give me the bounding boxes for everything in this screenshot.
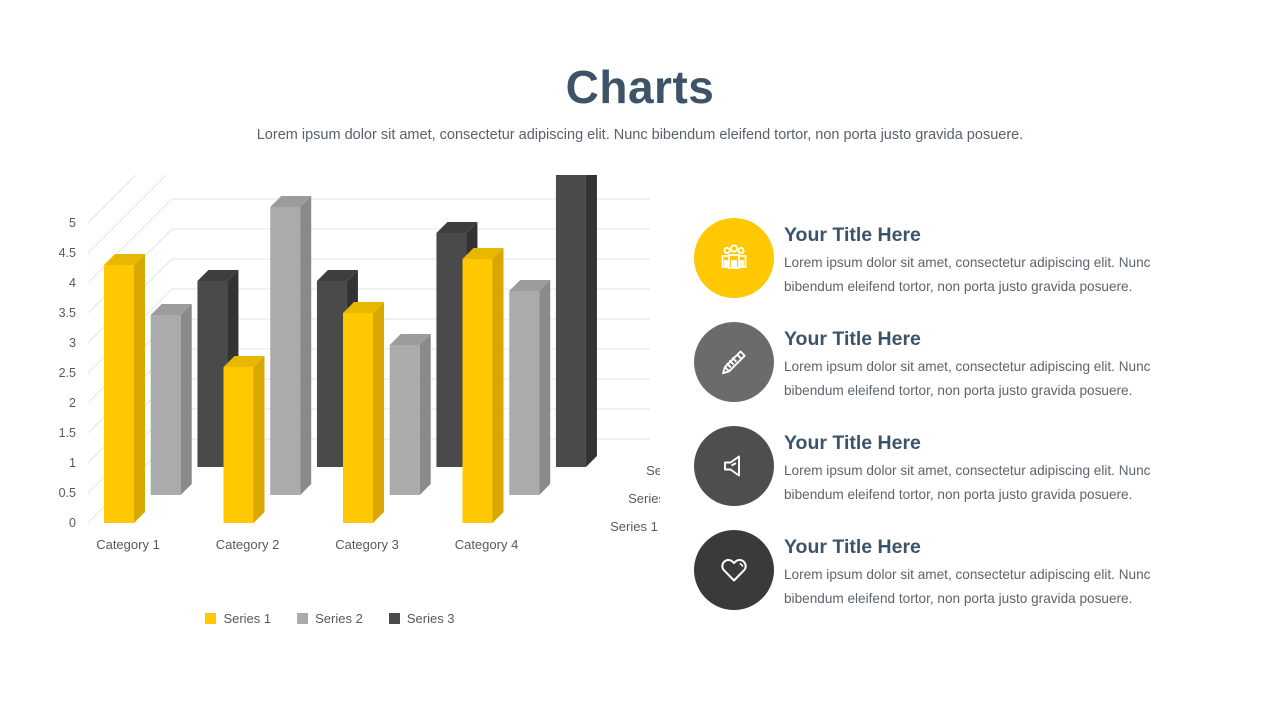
feature-title: Your Title Here — [784, 432, 1192, 454]
bar[interactable] — [509, 280, 550, 495]
bar[interactable] — [463, 248, 504, 523]
feature-description: Lorem ipsum dolor sit amet, consectetur … — [784, 459, 1192, 506]
y-tick-label: 3 — [69, 336, 76, 350]
feature-title: Your Title Here — [784, 328, 1192, 350]
bar-front-face — [436, 233, 466, 467]
page-subtitle: Lorem ipsum dolor sit amet, consectetur … — [0, 127, 1280, 143]
y-tick-label: 3.5 — [59, 306, 76, 320]
depth-label: Series 1 — [610, 519, 658, 534]
feature-title: Your Title Here — [784, 224, 1192, 246]
people-icon — [694, 218, 774, 298]
bar-chart-3d: 54.543.532.521.510.50Category 1Category … — [20, 175, 660, 575]
chart-legend: Series 1 Series 2 Series 3 — [20, 611, 640, 626]
y-tick-label: 5 — [69, 216, 76, 230]
bar-side-face — [539, 280, 550, 495]
x-axis-labels: Category 1Category 2Category 3Category 4 — [96, 537, 518, 552]
legend-swatch-series-2 — [297, 613, 308, 624]
category-label: Category 2 — [216, 537, 280, 552]
pencil-icon — [694, 322, 774, 402]
feature-list: Your Title Here Lorem ipsum dolor sit am… — [694, 218, 1204, 634]
bar[interactable] — [343, 302, 384, 523]
list-item[interactable]: Your Title Here Lorem ipsum dolor sit am… — [694, 322, 1204, 404]
y-tick-label: 4 — [69, 276, 76, 290]
legend-label: Series 1 — [223, 611, 271, 626]
bar-side-face — [134, 254, 145, 523]
chart-canvas: 54.543.532.521.510.50Category 1Category … — [20, 175, 660, 575]
bar-front-face — [317, 281, 347, 467]
bar[interactable] — [224, 356, 265, 523]
category-label: Category 4 — [455, 537, 519, 552]
feature-text-block: Your Title Here Lorem ipsum dolor sit am… — [774, 218, 1192, 298]
feature-title: Your Title Here — [784, 536, 1192, 558]
y-tick-label: 4.5 — [59, 246, 76, 260]
bar-side-face — [254, 356, 265, 523]
bar-side-face — [586, 175, 597, 467]
bar-front-face — [343, 313, 373, 523]
y-tick-label: 1.5 — [59, 426, 76, 440]
bar-side-face — [373, 302, 384, 523]
y-tick-label: 0 — [69, 516, 76, 530]
feature-text-block: Your Title Here Lorem ipsum dolor sit am… — [774, 426, 1192, 506]
y-tick-label: 1 — [69, 456, 76, 470]
bar-front-face — [463, 259, 493, 523]
legend-item[interactable]: Series 3 — [389, 611, 455, 626]
y-tick-label: 2 — [69, 396, 76, 410]
bar[interactable] — [104, 254, 145, 523]
heart-icon-glyph — [714, 550, 754, 590]
bar[interactable] — [270, 196, 311, 495]
bar-front-face — [270, 207, 300, 495]
bar-front-face — [151, 315, 181, 495]
bar-side-face — [181, 304, 192, 495]
legend-label: Series 2 — [315, 611, 363, 626]
legend-item[interactable]: Series 2 — [297, 611, 363, 626]
bar[interactable] — [556, 175, 597, 467]
bar-front-face — [556, 175, 586, 467]
feature-description: Lorem ipsum dolor sit amet, consectetur … — [784, 355, 1192, 402]
depth-axis-labels: Series 3Series 2Series 1 — [610, 463, 660, 534]
feature-text-block: Your Title Here Lorem ipsum dolor sit am… — [774, 530, 1192, 610]
feature-description: Lorem ipsum dolor sit amet, consectetur … — [784, 251, 1192, 298]
feature-text-block: Your Title Here Lorem ipsum dolor sit am… — [774, 322, 1192, 402]
bar[interactable] — [390, 334, 431, 495]
bar-side-face — [300, 196, 311, 495]
depth-label: Series 3 — [646, 463, 660, 478]
bars — [104, 175, 597, 523]
bar-front-face — [197, 281, 227, 467]
speaker-icon — [694, 426, 774, 506]
bar-side-face — [420, 334, 431, 495]
speaker-icon-glyph — [714, 446, 754, 486]
list-item[interactable]: Your Title Here Lorem ipsum dolor sit am… — [694, 530, 1204, 612]
category-label: Category 3 — [335, 537, 399, 552]
pencil-icon-glyph — [714, 342, 754, 382]
page-title: Charts — [0, 60, 1280, 114]
y-axis-labels: 54.543.532.521.510.50 — [59, 216, 76, 530]
bar-front-face — [509, 291, 539, 495]
bar-front-face — [104, 265, 134, 523]
list-item[interactable]: Your Title Here Lorem ipsum dolor sit am… — [694, 218, 1204, 300]
heart-icon — [694, 530, 774, 610]
people-icon-glyph — [714, 238, 754, 278]
category-label: Category 1 — [96, 537, 160, 552]
bar-front-face — [390, 345, 420, 495]
legend-swatch-series-1 — [205, 613, 216, 624]
legend-label: Series 3 — [407, 611, 455, 626]
depth-label: Series 2 — [628, 491, 660, 506]
chart-container: 54.543.532.521.510.50Category 1Category … — [20, 175, 660, 655]
legend-item[interactable]: Series 1 — [205, 611, 271, 626]
list-item[interactable]: Your Title Here Lorem ipsum dolor sit am… — [694, 426, 1204, 508]
bar-front-face — [224, 367, 254, 523]
legend-swatch-series-3 — [389, 613, 400, 624]
y-tick-label: 0.5 — [59, 486, 76, 500]
bar-side-face — [493, 248, 504, 523]
y-tick-label: 2.5 — [59, 366, 76, 380]
feature-description: Lorem ipsum dolor sit amet, consectetur … — [784, 563, 1192, 610]
bar[interactable] — [151, 304, 192, 495]
